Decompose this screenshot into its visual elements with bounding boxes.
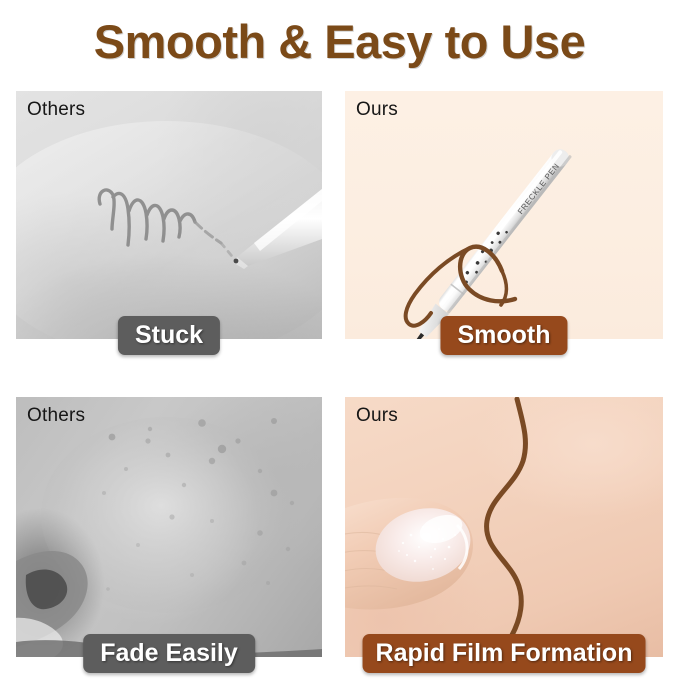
rapid-film-illustration: [345, 397, 663, 657]
panel-label-others-top: Others: [27, 99, 85, 121]
badge-smooth: Smooth: [440, 316, 567, 355]
pen-label-text: FRECKLE PEN: [516, 161, 561, 216]
faded-freckles-illustration: [16, 397, 322, 657]
badge-rapid-film-formation: Rapid Film Formation: [363, 634, 646, 673]
badge-stuck: Stuck: [118, 316, 220, 355]
panel-others-fade: Others Fade Easily: [16, 397, 322, 657]
photo-ours-smooth: FRECKLE PEN: [345, 91, 663, 339]
page-title: Smooth & Easy to Use: [0, 14, 679, 69]
panel-label-ours-bottom: Ours: [356, 405, 398, 427]
freckle-pen-illustration: FRECKLE PEN: [345, 91, 663, 339]
photo-ours-rapid: [345, 397, 663, 657]
photo-others-stuck: [16, 91, 322, 339]
panel-others-stuck: Others Stuck: [16, 91, 322, 339]
badge-fade-easily: Fade Easily: [83, 634, 255, 673]
comparison-grid: Others Stuck: [16, 91, 663, 657]
panel-ours-rapid: Ours Rapid Film Formation: [345, 397, 663, 657]
panel-ours-smooth: FRECKLE PEN Ours Smooth: [345, 91, 663, 339]
panel-label-ours-top: Ours: [356, 99, 398, 121]
stuck-stroke-illustration: [16, 91, 322, 339]
panel-label-others-bottom: Others: [27, 405, 85, 427]
photo-others-fade: [16, 397, 322, 657]
